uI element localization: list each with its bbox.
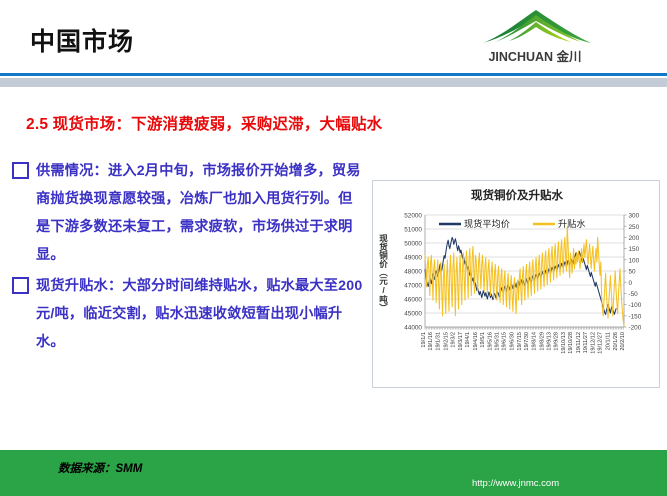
svg-text:-150: -150 bbox=[629, 313, 642, 320]
logo-wordmark: JINCHUAN 金川 bbox=[465, 46, 605, 65]
chart-plot-area: 4400045000460004700048000490005000051000… bbox=[391, 205, 657, 385]
svg-text:52000: 52000 bbox=[404, 213, 422, 220]
svg-text:49000: 49000 bbox=[404, 255, 422, 262]
svg-text:19/5/16: 19/5/16 bbox=[487, 332, 493, 351]
header-rule bbox=[0, 73, 667, 76]
section-heading: 2.5 现货市场：下游消费疲弱，采购迟滞，大幅贴水 bbox=[26, 112, 382, 134]
page-title: 中国市场 bbox=[30, 22, 134, 58]
svg-text:19/8/14: 19/8/14 bbox=[531, 332, 537, 351]
svg-text:19/7/30: 19/7/30 bbox=[524, 332, 530, 351]
svg-text:19/5/1: 19/5/1 bbox=[480, 332, 486, 348]
svg-text:19/6/15: 19/6/15 bbox=[502, 332, 508, 351]
data-source-label: 数据来源：SMM bbox=[58, 460, 142, 476]
svg-text:19/9/28: 19/9/28 bbox=[554, 332, 560, 351]
svg-text:46000: 46000 bbox=[404, 297, 422, 304]
svg-text:19/8/29: 19/8/29 bbox=[539, 332, 545, 351]
svg-text:150: 150 bbox=[629, 246, 640, 253]
svg-text:-100: -100 bbox=[629, 302, 642, 309]
svg-text:19/4/1: 19/4/1 bbox=[465, 332, 471, 348]
svg-text:45000: 45000 bbox=[404, 311, 422, 318]
svg-text:19/11/27: 19/11/27 bbox=[583, 332, 589, 353]
bullet-list: 供需情况：进入2月中旬，市场报价开始增多，贸易商抛货换现意愿较强，冶炼厂也加入甩… bbox=[12, 157, 364, 359]
svg-text:19/1/31: 19/1/31 bbox=[435, 332, 441, 351]
footer-url[interactable]: http://www.jnmc.com bbox=[472, 478, 559, 489]
svg-text:19/10/13: 19/10/13 bbox=[561, 332, 567, 354]
svg-text:47000: 47000 bbox=[404, 283, 422, 290]
svg-text:19/3/2: 19/3/2 bbox=[451, 332, 457, 348]
list-item: 供需情况：进入2月中旬，市场报价开始增多，贸易商抛货换现意愿较强，冶炼厂也加入甩… bbox=[12, 157, 364, 269]
header-band bbox=[0, 78, 667, 87]
svg-text:19/12/12: 19/12/12 bbox=[590, 332, 596, 354]
svg-text:44000: 44000 bbox=[404, 325, 422, 332]
list-item: 现货升贴水：大部分时间维持贴水，贴水最大至200元/吨，临近交割，贴水迅速收敛短… bbox=[12, 272, 364, 356]
svg-text:现货平均价: 现货平均价 bbox=[464, 218, 510, 230]
svg-text:19/6/30: 19/6/30 bbox=[510, 332, 516, 351]
svg-text:19/7/15: 19/7/15 bbox=[517, 332, 523, 351]
svg-text:-200: -200 bbox=[629, 325, 642, 332]
svg-text:19/5/31: 19/5/31 bbox=[495, 332, 501, 351]
chart-title: 现货铜价及升贴水 bbox=[373, 187, 661, 203]
square-bullet-icon bbox=[12, 162, 29, 179]
svg-text:51000: 51000 bbox=[404, 227, 422, 234]
svg-text:升贴水: 升贴水 bbox=[558, 218, 586, 230]
svg-text:-50: -50 bbox=[629, 291, 639, 298]
chart-svg: 4400045000460004700048000490005000051000… bbox=[391, 205, 657, 385]
mountain-peak-logo-icon bbox=[481, 8, 593, 46]
company-logo: JINCHUAN 金川 bbox=[465, 8, 605, 68]
slide-header: 中国市场 JINCHUAN 金川 bbox=[0, 0, 667, 72]
slide-footer: 数据来源：SMM http://www.jnmc.com bbox=[0, 450, 667, 496]
svg-text:19/9/13: 19/9/13 bbox=[546, 332, 552, 351]
chart-y-axis-title: 现货铜价（元/吨） bbox=[376, 209, 390, 337]
svg-text:200: 200 bbox=[629, 235, 640, 242]
bullet-text: 现货升贴水：大部分时间维持贴水，贴水最大至200元/吨，临近交割，贴水迅速收敛短… bbox=[36, 272, 364, 356]
svg-text:20/1/26: 20/1/26 bbox=[613, 332, 619, 351]
svg-text:50: 50 bbox=[629, 269, 637, 276]
slide-body: 2.5 现货市场：下游消费疲弱，采购迟滞，大幅贴水 供需情况：进入2月中旬，市场… bbox=[0, 95, 667, 440]
svg-text:19/10/28: 19/10/28 bbox=[568, 332, 574, 354]
svg-text:19/2/15: 19/2/15 bbox=[443, 332, 449, 351]
svg-text:250: 250 bbox=[629, 224, 640, 231]
svg-text:0: 0 bbox=[629, 280, 633, 287]
svg-text:19/11/12: 19/11/12 bbox=[576, 332, 582, 353]
svg-text:300: 300 bbox=[629, 213, 640, 220]
slide-root: 中国市场 JINCHUAN 金川 bbox=[0, 0, 667, 496]
square-bullet-icon bbox=[12, 277, 29, 294]
bullet-text: 供需情况：进入2月中旬，市场报价开始增多，贸易商抛货换现意愿较强，冶炼厂也加入甩… bbox=[36, 157, 364, 269]
chart-panel: 现货铜价及升贴水 现货铜价（元/吨） 440004500046000470004… bbox=[372, 180, 660, 388]
svg-text:20/1/11: 20/1/11 bbox=[606, 332, 612, 350]
svg-text:100: 100 bbox=[629, 257, 640, 264]
svg-text:20/2/10: 20/2/10 bbox=[620, 332, 626, 351]
svg-text:19/12/27: 19/12/27 bbox=[598, 332, 604, 354]
svg-text:19/1/1: 19/1/1 bbox=[421, 332, 427, 348]
svg-text:19/4/16: 19/4/16 bbox=[473, 332, 479, 351]
svg-text:50000: 50000 bbox=[404, 241, 422, 248]
svg-text:19/1/16: 19/1/16 bbox=[428, 332, 434, 351]
svg-text:19/3/17: 19/3/17 bbox=[458, 332, 464, 351]
svg-text:48000: 48000 bbox=[404, 269, 422, 276]
